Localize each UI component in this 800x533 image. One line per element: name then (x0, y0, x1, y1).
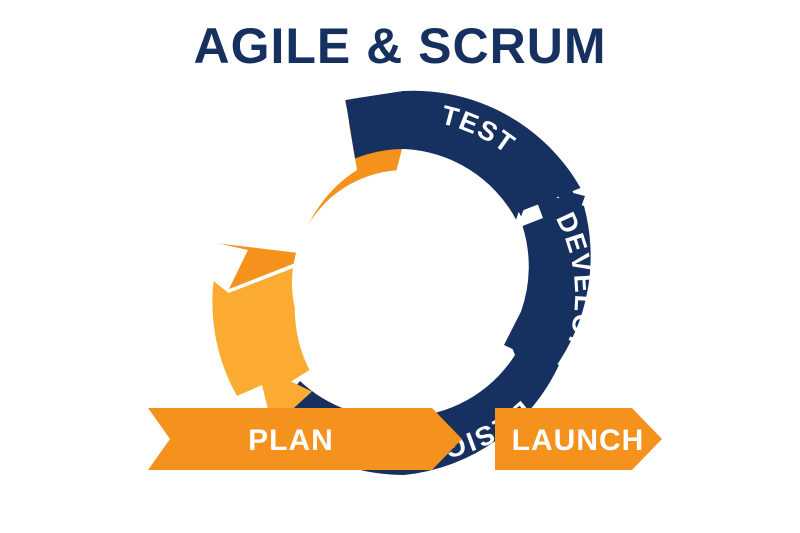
banner-launch[interactable]: LAUNCH (495, 408, 662, 470)
cycle-inner-disc (292, 170, 518, 396)
banner-launch-label: LAUNCH (512, 424, 645, 457)
agile-scrum-infographic: AGILE & SCRUM DEPLOY TEST (0, 0, 800, 533)
page-title: AGILE & SCRUM (194, 18, 607, 74)
segment-test-wedge-left (346, 91, 405, 159)
bottom-banners: PLAN LAUNCH (148, 408, 662, 470)
banner-plan-label: PLAN (248, 424, 334, 457)
banner-plan[interactable]: PLAN (148, 408, 462, 470)
